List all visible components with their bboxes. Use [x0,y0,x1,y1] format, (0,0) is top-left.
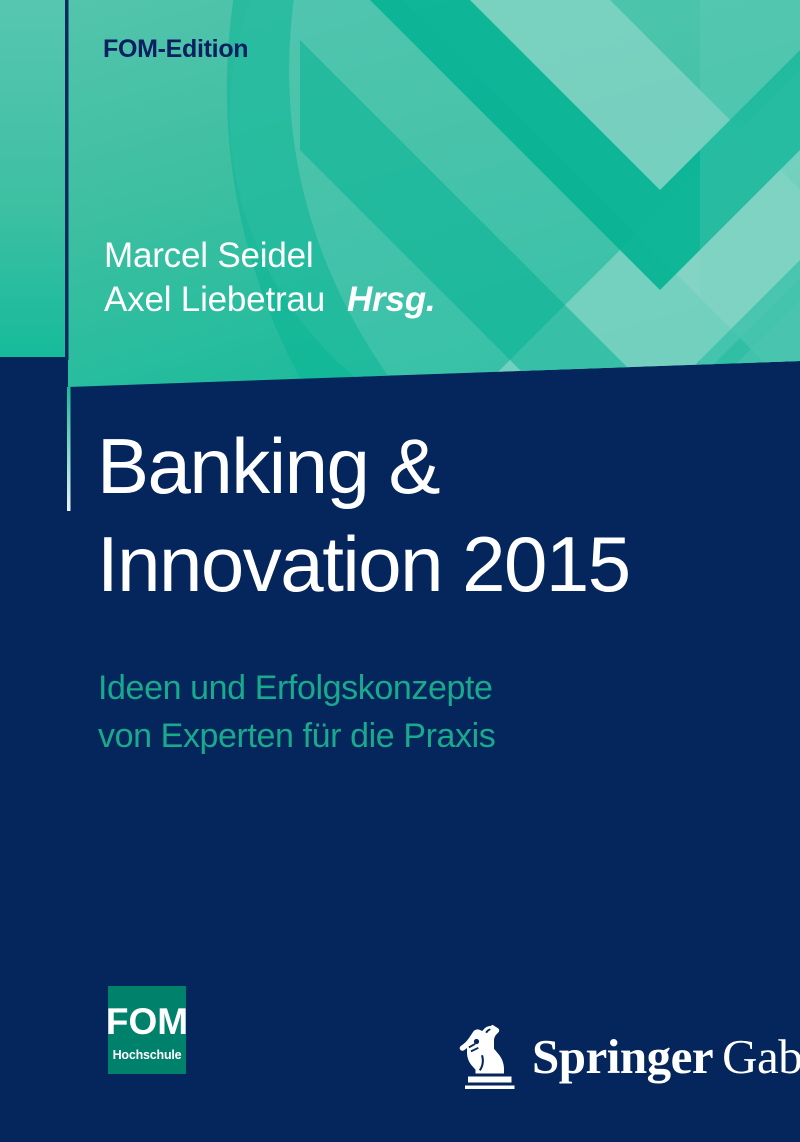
author-line-2: Axel LiebetrauHrsg. [104,278,435,322]
book-cover: FOM-Edition Marcel Seidel Axel Liebetrau… [0,0,800,1142]
gabler-imprint-text: Gabler [713,1029,800,1084]
author-line-1: Marcel Seidel [104,234,435,278]
page-subtitle: Ideen und Erfolgskonzepte von Experten f… [98,664,495,760]
title-line-1: Banking & [97,417,630,515]
fom-logo-subtitle: Hochschule [113,1047,182,1063]
author-name-1: Marcel Seidel [104,236,313,275]
fom-hochschule-logo: FOM Hochschule [108,986,186,1074]
springer-brand-text: Springer [532,1029,713,1084]
author-name-2: Axel Liebetrau [104,280,325,319]
page-title: Banking & Innovation 2015 [97,417,630,613]
fom-logo-wordmark: FOM [106,1002,188,1042]
author-block: Marcel Seidel Axel LiebetrauHrsg. [104,234,435,322]
springer-knight-icon [458,1024,518,1092]
subtitle-line-1: Ideen und Erfolgskonzepte [98,664,495,712]
title-line-2: Innovation 2015 [97,515,630,613]
subtitle-line-2: von Experten für die Praxis [98,712,495,760]
springer-gabler-wordmark: SpringerGabler [532,1028,800,1085]
springer-gabler-logo: SpringerGabler [458,1020,800,1092]
cover-text-layer: FOM-Edition Marcel Seidel Axel Liebetrau… [0,0,800,1142]
editor-role-label: Hrsg. [325,280,435,319]
series-label: FOM-Edition [103,35,248,64]
